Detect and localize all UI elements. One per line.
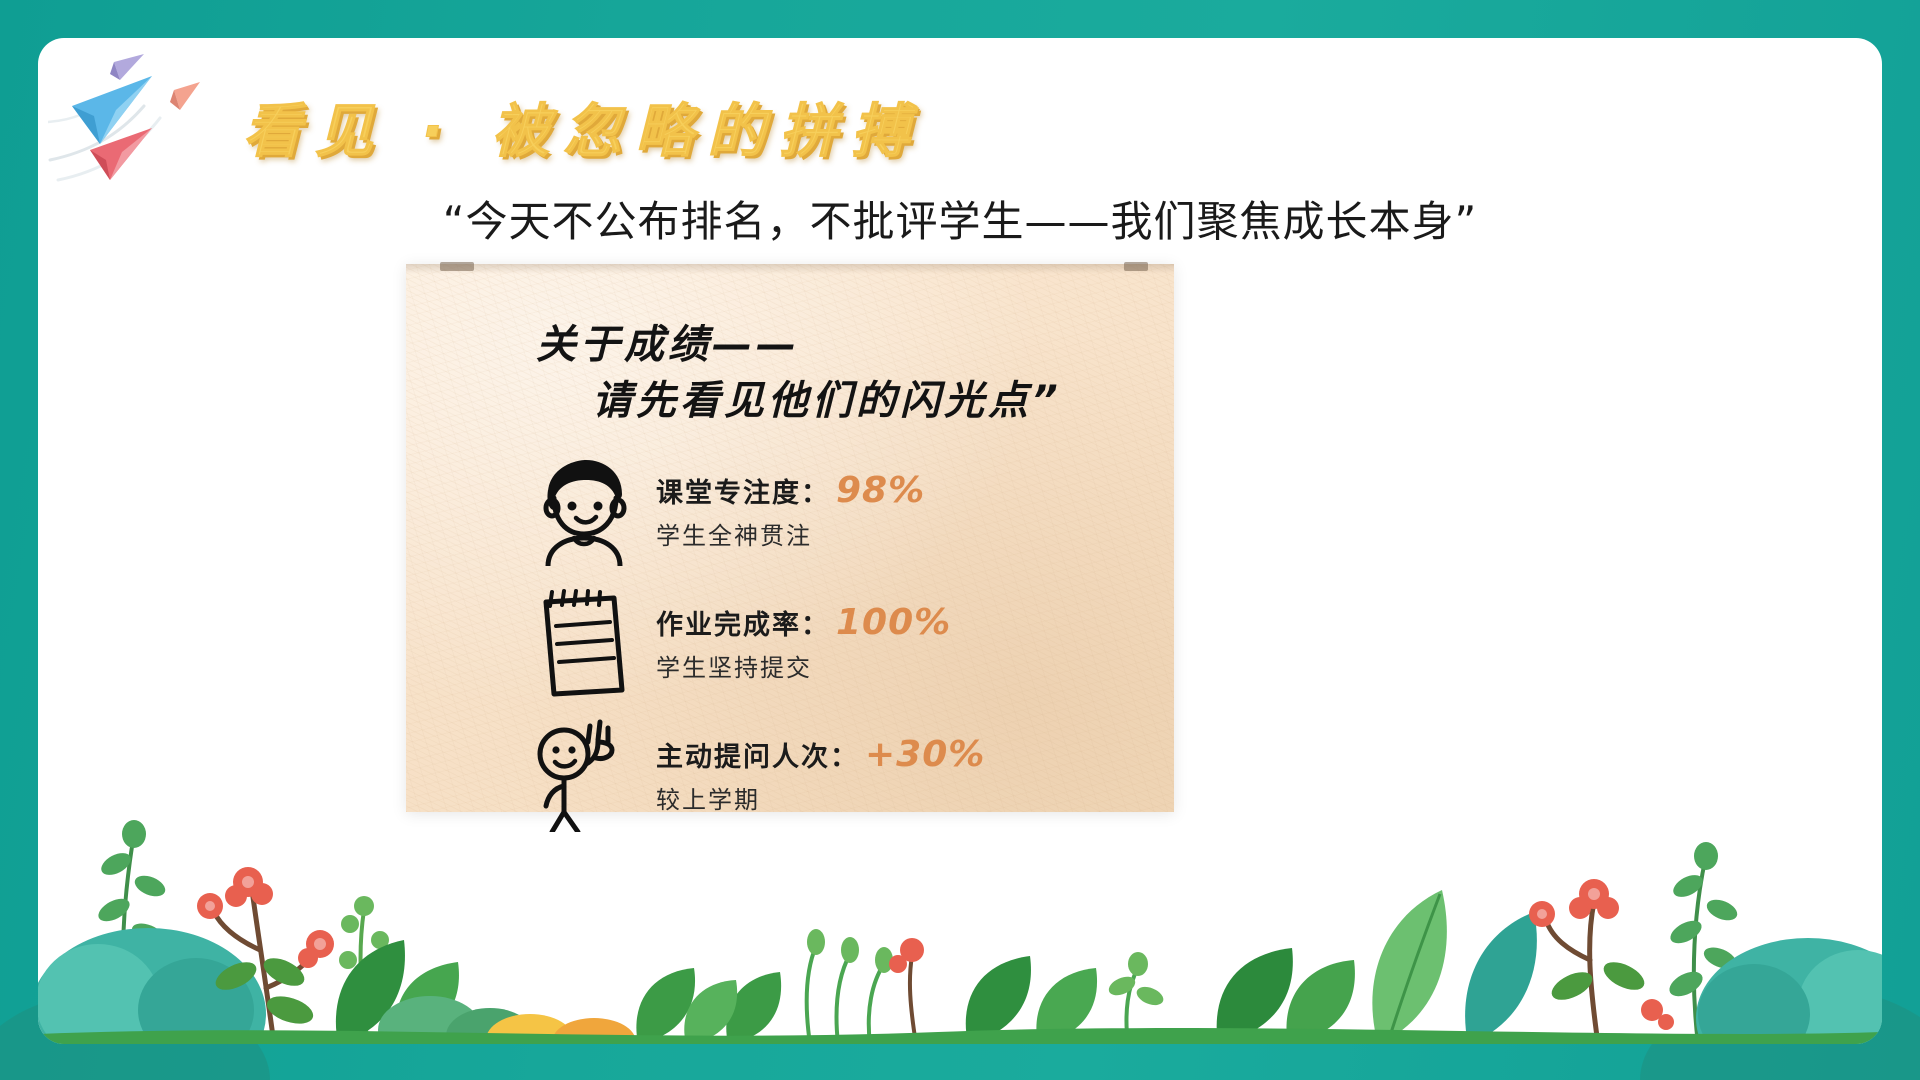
- stat-row: 作业完成率： 100% 学生坚持提交: [406, 576, 1174, 708]
- stat-row: 课堂专注度： 98% 学生全神贯注: [406, 444, 1174, 576]
- card-heading-line2: 请先看见他们的闪光点”: [592, 368, 1062, 426]
- stat-metric-label: 主动提问人次：: [656, 735, 859, 774]
- stats-card: 关于成绩—— 请先看见他们的闪光点”: [406, 264, 1174, 812]
- slide-stage: 看见 · 被忽略的拼搏 “今天不公布排名，不批评学生——我们聚焦成长本身” 关于…: [0, 0, 1920, 1080]
- stat-value: 100%: [836, 602, 951, 643]
- notebook-icon: [524, 586, 644, 698]
- stat-description: 学生坚持提交: [656, 648, 1174, 683]
- stats-list: 课堂专注度： 98% 学生全神贯注: [406, 444, 1174, 840]
- stat-value: +30%: [865, 734, 985, 775]
- stat-metric-label: 作业完成率：: [656, 603, 830, 642]
- stat-description: 学生全神贯注: [656, 516, 1174, 551]
- stat-metric-label: 课堂专注度：: [656, 471, 830, 510]
- stat-value: 98%: [836, 470, 925, 511]
- page-title: 看见 · 被忽略的拼搏: [243, 84, 923, 168]
- slide-panel: 看见 · 被忽略的拼搏 “今天不公布排名，不批评学生——我们聚焦成长本身” 关于…: [38, 38, 1882, 1044]
- card-heading-line1: 关于成绩——: [536, 312, 800, 370]
- subtitle-quote: “今天不公布排名，不批评学生——我们聚焦成长本身”: [38, 188, 1882, 249]
- student-head-icon: [524, 454, 644, 566]
- stat-description: 较上学期: [656, 780, 1174, 815]
- raised-hand-person-icon: [524, 716, 644, 832]
- paper-plane-icon: [48, 40, 248, 190]
- slide-header: 看见 · 被忽略的拼搏: [38, 38, 1882, 188]
- stat-row: 主动提问人次： +30% 较上学期: [406, 708, 1174, 840]
